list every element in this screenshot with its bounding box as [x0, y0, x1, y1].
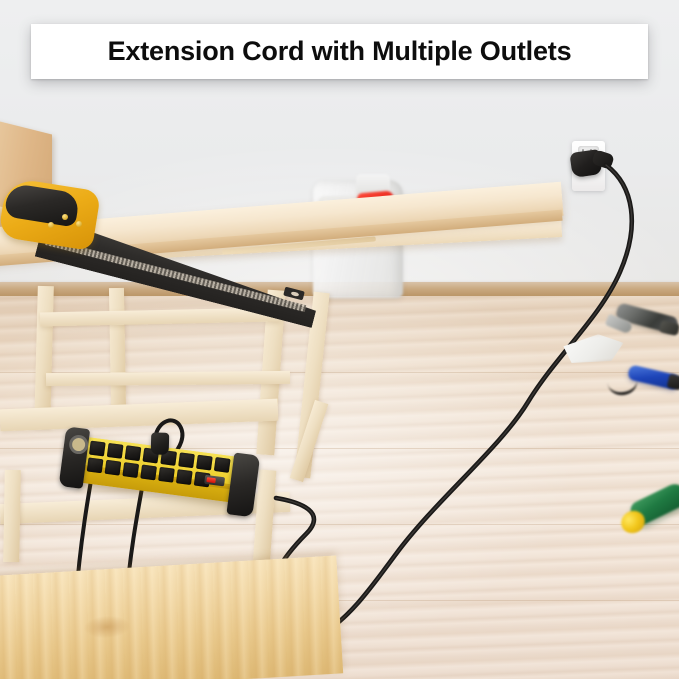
- power-switch-indicator: [206, 477, 216, 483]
- plugged-in-plug: [151, 432, 170, 454]
- outlet-socket[interactable]: [122, 462, 139, 478]
- outlet-socket[interactable]: [214, 457, 231, 473]
- outlet-socket[interactable]: [140, 464, 157, 480]
- outlet-socket[interactable]: [158, 467, 175, 483]
- outlet-socket[interactable]: [87, 457, 104, 473]
- page-title: Extension Cord with Multiple Outlets: [108, 36, 572, 67]
- outlet-socket[interactable]: [89, 441, 106, 457]
- title-banner: Extension Cord with Multiple Outlets: [31, 24, 648, 79]
- outlet-socket[interactable]: [196, 455, 213, 471]
- wood-plank-foreground: [0, 555, 343, 679]
- product-photo-scene: Extension Cord with Multiple Outlets: [0, 0, 679, 679]
- outlet-socket[interactable]: [176, 469, 193, 485]
- outlet-socket[interactable]: [125, 445, 142, 461]
- wood-knot: [83, 615, 130, 640]
- outlet-socket[interactable]: [105, 460, 122, 476]
- wire-stripper-head: [667, 374, 679, 391]
- keyhole-mount-icon: [68, 434, 89, 455]
- outlet-socket[interactable]: [178, 452, 195, 468]
- outlet-socket[interactable]: [107, 443, 124, 459]
